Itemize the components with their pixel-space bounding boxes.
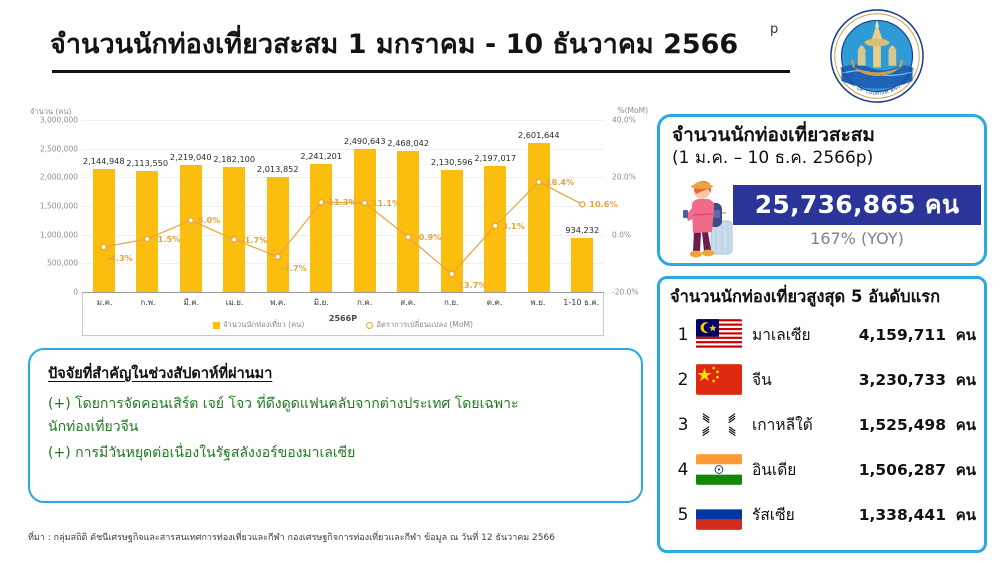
x-tick-label: มี.ค.: [170, 296, 213, 309]
x-tick-label: ก.ย.: [430, 296, 473, 309]
bar: [397, 151, 419, 293]
cumulative-yoy: 167% (YOY): [733, 229, 981, 248]
x-tick-label: ม.ค.: [83, 296, 126, 309]
bar: [267, 177, 289, 292]
top5-rows: 1มาเลเซีย4,159,711คน2จีน3,230,733คน3เกาห…: [670, 312, 976, 537]
legend-item-mom: อัตราการเปลี่ยนแปลง (MoM): [366, 319, 473, 331]
key-factors-heading: ปัจจัยที่สำคัญในช่วงสัปดาห์ที่ผ่านมา: [48, 362, 623, 385]
x-tick-label: พ.ค.: [256, 296, 299, 309]
bar-slot: 2,130,596: [430, 120, 474, 292]
bar-value-label: 2,490,643: [344, 136, 386, 146]
legend-label-mom: อัตราการเปลี่ยนแปลง (MoM): [376, 319, 473, 331]
cumulative-value: 25,736,865 คน: [755, 185, 960, 225]
bar-slot: 2,219,040: [169, 120, 213, 292]
bar-value-label: 2,197,017: [474, 153, 516, 163]
country-unit: คน: [946, 503, 976, 527]
cumulative-title: จำนวนนักท่องเที่ยวสะสม: [672, 125, 972, 147]
bar: [571, 238, 593, 292]
y-axis-left: 3,000,0002,500,0002,000,0001,500,0001,00…: [22, 120, 78, 292]
mom-value-label: -1.7%: [241, 235, 267, 245]
mom-value-label: 10.6%: [589, 199, 617, 209]
bar-value-label: 2,013,852: [257, 164, 299, 174]
country-name: อินเดีย: [752, 457, 848, 482]
country-flag: [696, 364, 742, 395]
page-title: จำนวนนักท่องเที่ยวสะสม 1 มกราคม - 10 ธัน…: [50, 22, 738, 65]
mom-value-label: -0.9%: [415, 232, 441, 242]
mom-value-label: -7.7%: [281, 263, 307, 273]
country-value: 4,159,711: [848, 326, 946, 344]
country-name: เกาหลีใต้: [752, 412, 848, 437]
cumulative-subtitle: (1 ม.ค. – 10 ธ.ค. 2566p): [672, 148, 972, 168]
rank-number: 5: [670, 505, 696, 525]
russia-flag-icon: [696, 499, 742, 530]
y-tick-label: 3,000,000: [40, 116, 78, 125]
country-name: จีน: [752, 367, 848, 392]
bar: [136, 171, 158, 292]
country-value: 1,525,498: [848, 416, 946, 434]
mom-value-label: -13.7%: [455, 280, 487, 290]
top5-row: 1มาเลเซีย4,159,711คน: [670, 312, 976, 357]
malaysia-flag-icon: [696, 319, 742, 350]
tourist-arrivals-chart: จำนวน (คน) %(MoM) 3,000,0002,500,0002,00…: [22, 104, 650, 340]
y-tick-label: 2,000,000: [40, 173, 78, 182]
mom-value-label: 3.1%: [502, 221, 525, 231]
bar-value-label: 2,601,644: [518, 130, 560, 140]
cumulative-arrivals-box: จำนวนนักท่องเที่ยวสะสม (1 ม.ค. – 10 ธ.ค.…: [657, 114, 987, 266]
mom-value-label: -1.5%: [154, 234, 180, 244]
country-name: มาเลเซีย: [752, 322, 848, 347]
line-marker-icon: [366, 322, 373, 329]
ministry-of-tourism-and-sports-emblem-icon: กระทรวงการท่องเที่ยวและกีฬา MINISTRY OF …: [829, 8, 925, 104]
source-note: ที่มา : กลุ่มสถิติ ดัชนีเศรษฐกิจและสารสน…: [28, 530, 555, 544]
chart-plot-area: 2,144,9482,113,5502,219,0402,182,1002,01…: [82, 120, 604, 292]
x-axis-labels: ม.ค.ก.พ.มี.ค.เม.ย.พ.ค.มิ.ย.ก.ค.ส.ค.ก.ย.ต…: [83, 296, 603, 309]
y-tick-label: 0: [73, 288, 78, 297]
page-header: จำนวนนักท่องเที่ยวสะสม 1 มกราคม - 10 ธัน…: [0, 0, 1000, 100]
bar-slot: 2,601,644: [517, 120, 561, 292]
bar-value-label: 2,241,201: [300, 151, 342, 161]
mom-value-label: 11.3%: [328, 197, 356, 207]
chart-legend: จำนวนนักท่องเที่ยว (คน) อัตราการเปลี่ยนแ…: [82, 319, 604, 331]
country-unit: คน: [946, 458, 976, 482]
country-flag: [696, 409, 742, 440]
y-tick-label: 1,000,000: [40, 230, 78, 239]
bar-value-label: 2,182,100: [213, 154, 255, 164]
x-tick-label: มิ.ย.: [300, 296, 343, 309]
bar: [354, 149, 376, 292]
page-title-superscript: p: [770, 22, 778, 37]
legend-item-arrivals: จำนวนนักท่องเที่ยว (คน): [213, 319, 304, 331]
country-value: 1,338,441: [848, 506, 946, 524]
x-tick-label: ส.ค.: [386, 296, 429, 309]
mom-value-label: 11.1%: [372, 198, 400, 208]
y2-tick-label: 20.0%: [612, 173, 636, 182]
south-korea-flag-icon: [696, 409, 742, 440]
country-unit: คน: [946, 413, 976, 437]
bar-slot: 2,182,100: [213, 120, 257, 292]
bar-slot: 2,113,550: [126, 120, 170, 292]
mom-value-label: 18.4%: [546, 177, 574, 187]
key-factor-item: (+) การมีวันหยุดต่อเนื่องในรัฐสลังงอร์ขอ…: [48, 443, 623, 464]
y2-tick-label: 40.0%: [612, 116, 636, 125]
y-tick-label: 1,500,000: [40, 202, 78, 211]
x-tick-label: 1-10 ธ.ค.: [560, 296, 603, 309]
bar: [223, 167, 245, 292]
country-value: 3,230,733: [848, 371, 946, 389]
bar: [93, 169, 115, 292]
top5-row: 3เกาหลีใต้1,525,498คน: [670, 402, 976, 447]
country-value: 1,506,287: [848, 461, 946, 479]
top5-row: 4อินเดีย1,506,287คน: [670, 447, 976, 492]
china-flag-icon: [696, 364, 742, 395]
top5-row: 5รัสเซีย1,338,441คน: [670, 492, 976, 537]
top5-row: 2จีน3,230,733คน: [670, 357, 976, 402]
country-unit: คน: [946, 368, 976, 392]
rank-number: 2: [670, 370, 696, 390]
bar-slot: 2,144,948: [82, 120, 126, 292]
x-tick-label: พ.ย.: [516, 296, 559, 309]
bar: [528, 143, 550, 292]
key-factor-item-continued: นักท่องเที่ยวจีน: [48, 417, 623, 438]
rank-number: 3: [670, 415, 696, 435]
legend-label-arrivals: จำนวนนักท่องเที่ยว (คน): [223, 319, 304, 331]
y2-tick-label: 0.0%: [612, 230, 631, 239]
bar-swatch-icon: [213, 322, 220, 329]
top5-title: จำนวนนักท่องเที่ยวสูงสุด 5 อันดับแรก: [670, 284, 976, 310]
mom-value-label: -4.3%: [107, 253, 133, 263]
country-flag: [696, 319, 742, 350]
mom-value-label: 5.0%: [198, 215, 221, 225]
rank-number: 1: [670, 325, 696, 345]
y-tick-label: 2,500,000: [40, 144, 78, 153]
bar-value-label: 2,219,040: [170, 152, 212, 162]
x-tick-label: เม.ย.: [213, 296, 256, 309]
y2-tick-label: -20.0%: [612, 288, 639, 297]
rank-number: 4: [670, 460, 696, 480]
bar-value-label: 2,468,042: [387, 138, 429, 148]
title-divider: [52, 70, 790, 73]
top5-countries-box: จำนวนนักท่องเที่ยวสูงสุด 5 อันดับแรก 1มา…: [657, 276, 987, 553]
country-name: รัสเซีย: [752, 502, 848, 527]
bar-value-label: 2,144,948: [83, 156, 125, 166]
key-factors-box: ปัจจัยที่สำคัญในช่วงสัปดาห์ที่ผ่านมา (+)…: [28, 348, 643, 503]
india-flag-icon: [696, 454, 742, 485]
bar: [310, 164, 332, 292]
country-flag: [696, 454, 742, 485]
x-tick-label: ต.ค.: [473, 296, 516, 309]
key-factor-item: (+) โดยการจัดคอนเสิร์ต เจย์ โจว ที่ดึงดู…: [48, 394, 623, 415]
x-tick-label: ก.ค.: [343, 296, 386, 309]
country-flag: [696, 499, 742, 530]
x-tick-label: ก.พ.: [126, 296, 169, 309]
bar-value-label: 2,130,596: [431, 157, 473, 167]
y-tick-label: 500,000: [47, 259, 78, 268]
bar: [180, 165, 202, 292]
cumulative-value-band: 25,736,865 คน: [733, 185, 981, 225]
y2-axis-title: %(MoM): [617, 106, 648, 115]
bar-value-label: 2,113,550: [126, 158, 168, 168]
bar: [441, 170, 463, 292]
traveler-with-suitcase-illustration-icon: [678, 177, 736, 261]
bar-value-label: 934,232: [565, 225, 599, 235]
country-unit: คน: [946, 323, 976, 347]
bar-slot: 2,197,017: [474, 120, 518, 292]
